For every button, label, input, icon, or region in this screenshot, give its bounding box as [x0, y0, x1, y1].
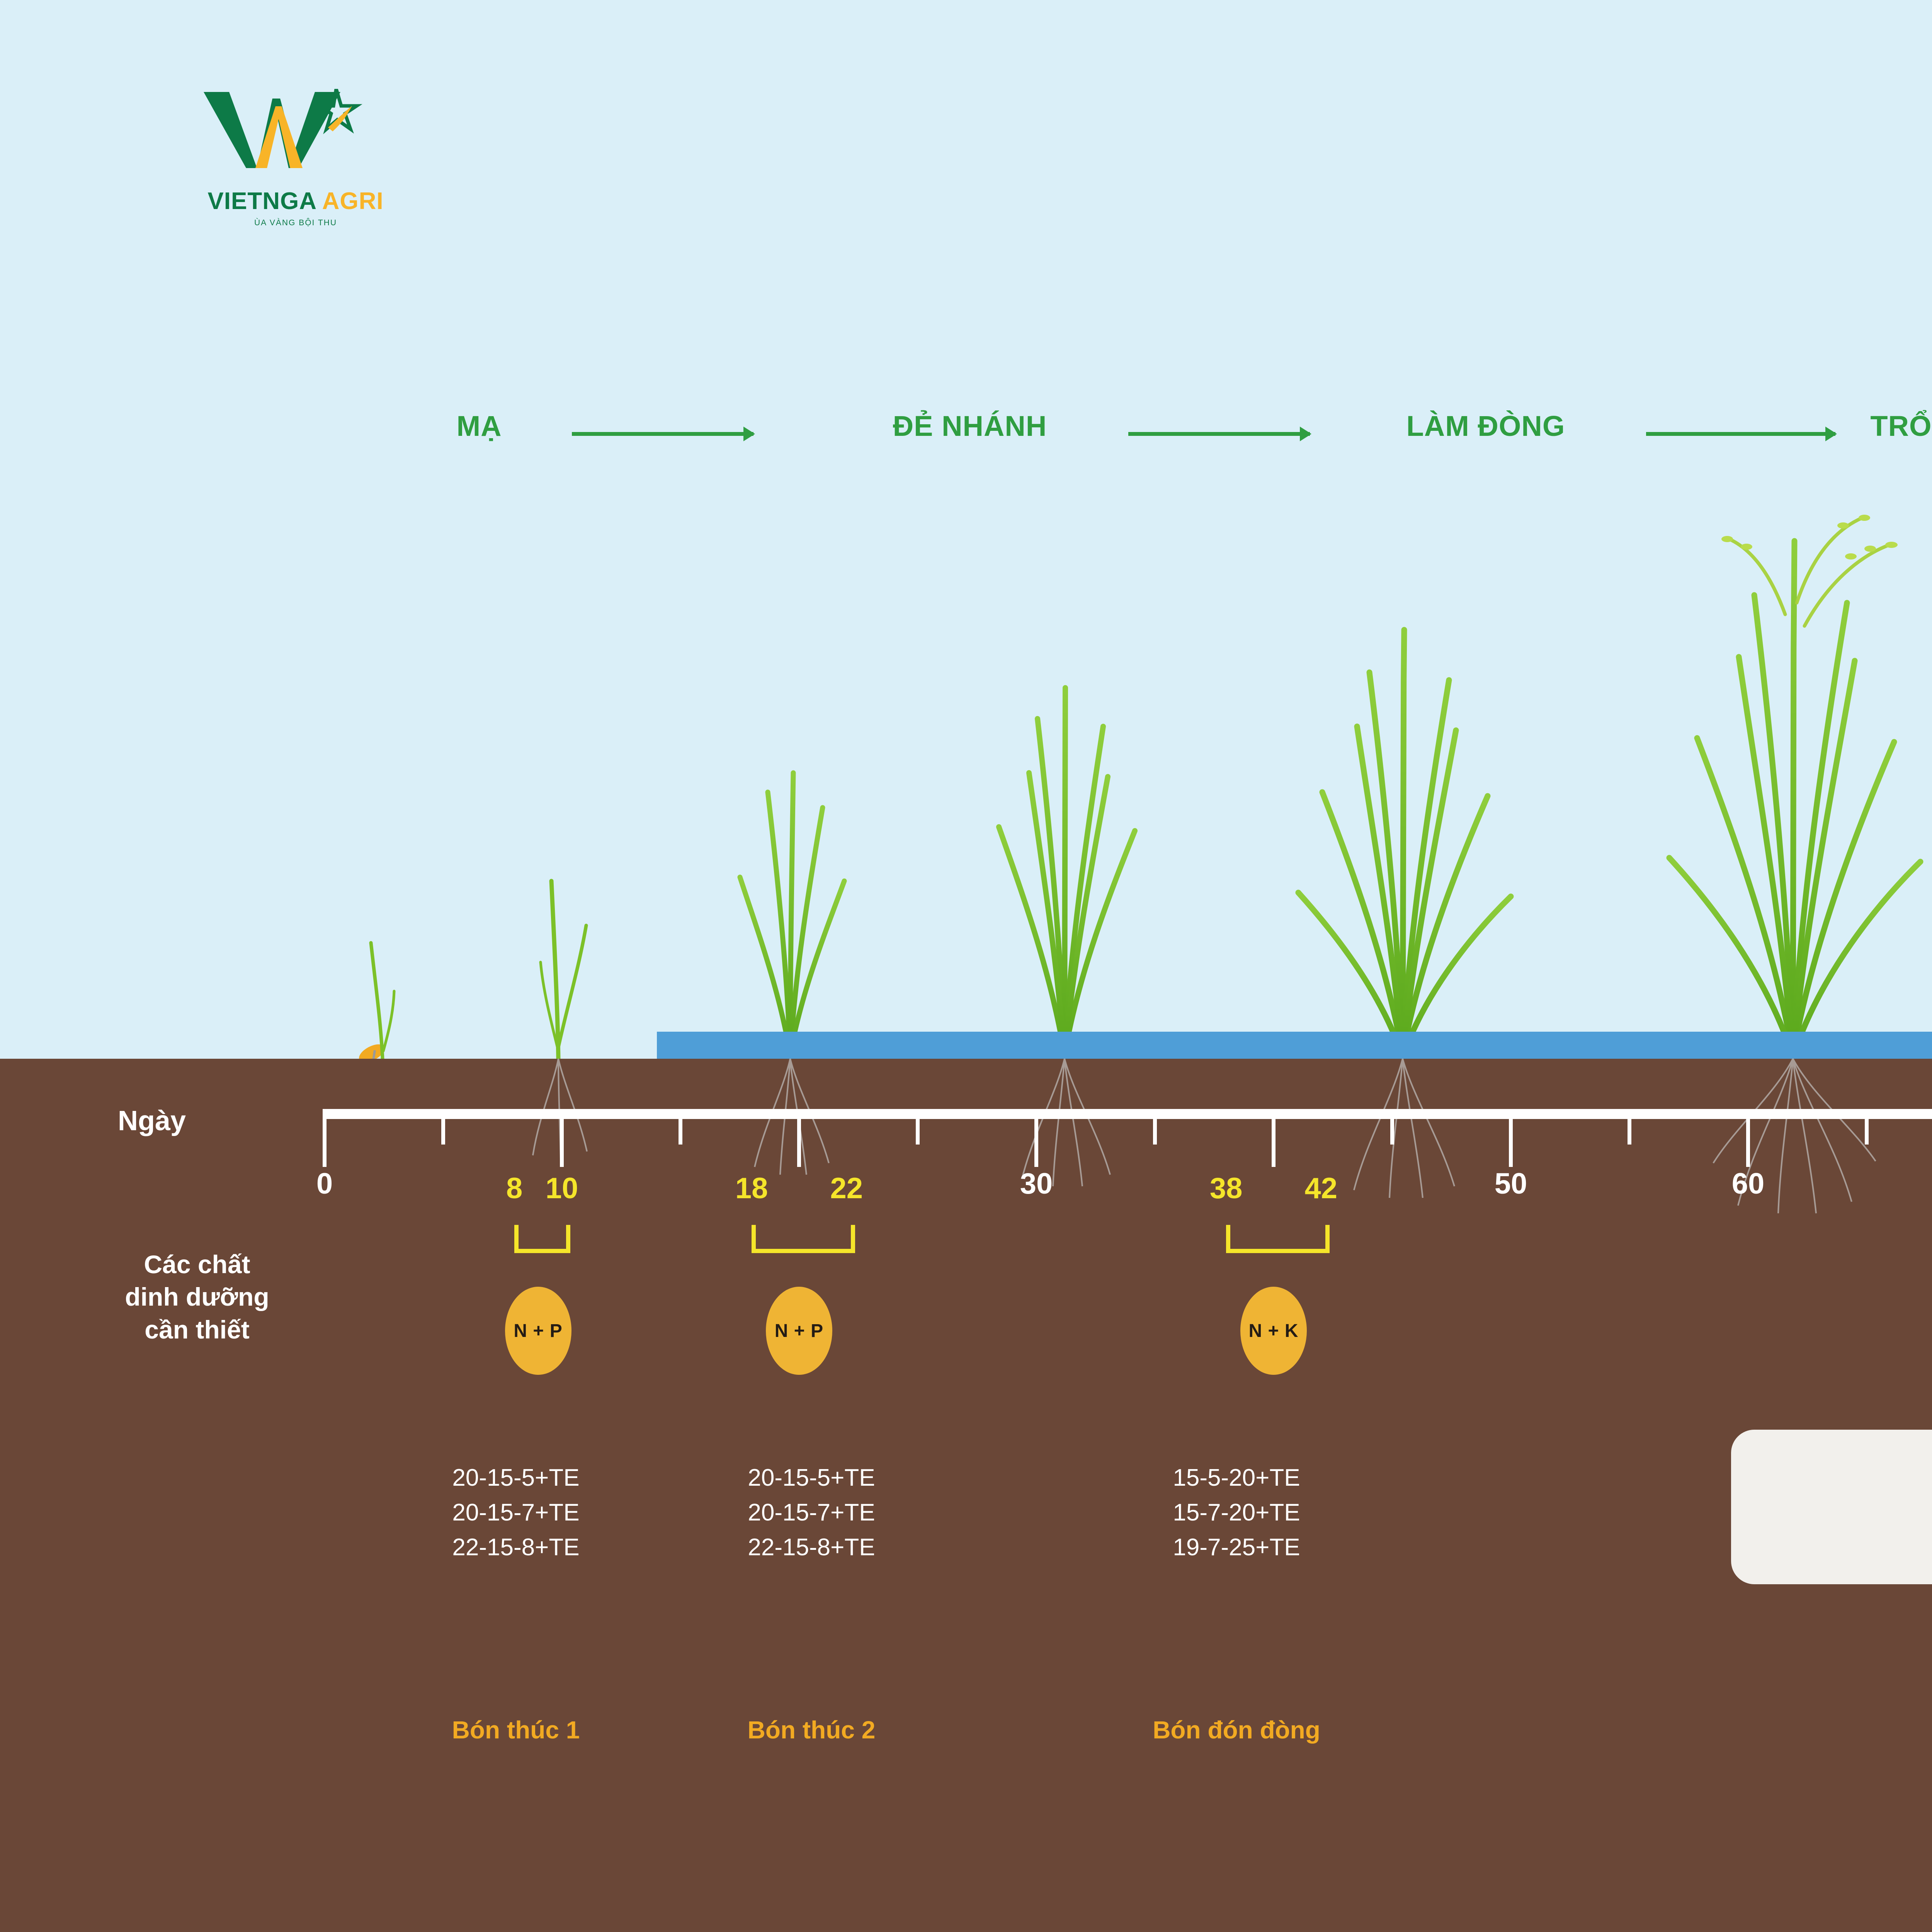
formula-column-2: 20-15-5+TE20-15-7+TE22-15-8+TE [748, 1461, 875, 1565]
advisory-note: Lưu ý: có rất nhiều yếu tố để quyết định… [1731, 1607, 1932, 1708]
day-label-18: 18 [735, 1172, 768, 1205]
formula-item: 20-15-7+TE [452, 1495, 579, 1530]
day-label-50: 50 [1495, 1167, 1527, 1201]
growth-stage-flow: MẠĐẺ NHÁNHLÀM ĐÒNGTRỔTHU HOẠCH [0, 410, 1932, 471]
tick-major-10 [560, 1117, 564, 1167]
tick-minor-45 [1390, 1117, 1394, 1145]
stage-label-4: TRỔ [1870, 410, 1932, 442]
w-monogram-icon [199, 89, 365, 185]
nutrient-badge-1[interactable]: N + P [505, 1287, 571, 1375]
timeline-axis [323, 1109, 1932, 1119]
nutrient-label-line-1: Các chất [73, 1248, 321, 1281]
stage-arrow-3 [1646, 432, 1835, 436]
formula-item: 22-15-8+TE [452, 1530, 579, 1565]
formula-column-1: 20-15-5+TE20-15-7+TE22-15-8+TE [452, 1461, 579, 1565]
fertilizer-bracket-3 [1226, 1225, 1330, 1253]
day-label-60: 60 [1732, 1167, 1765, 1201]
logo-name-orange: AGRI [322, 188, 384, 214]
stage-label-3: LÀM ĐÒNG [1406, 410, 1565, 442]
note-line-1: Lưu ý: có rất nhiều yếu tố để quyết định… [1731, 1607, 1932, 1641]
day-label-10: 10 [546, 1172, 578, 1205]
stage-arrow-1 [572, 432, 753, 436]
fertilizer-stage-name-1: Bón thúc 1 [452, 1716, 580, 1744]
formula-item: 22-15-8+TE [748, 1530, 875, 1565]
tick-minor-35 [1153, 1117, 1157, 1145]
day-label-8: 8 [506, 1172, 522, 1205]
logo-name-green: VIETNGA [207, 188, 316, 214]
day-label-30: 30 [1020, 1167, 1053, 1201]
nutrient-badge-2[interactable]: N + P [766, 1287, 832, 1375]
tick-major-40 [1272, 1117, 1276, 1167]
day-label-38: 38 [1210, 1172, 1243, 1205]
tick-major-60 [1746, 1117, 1750, 1167]
formula-item: 19-7-25+TE [1173, 1530, 1300, 1565]
day-label-22: 22 [830, 1172, 863, 1205]
formula-item: 15-5-20+TE [1173, 1461, 1300, 1495]
nutrient-badge-label: N + K [1248, 1320, 1298, 1342]
fertilizer-bracket-2 [752, 1225, 855, 1253]
stage-label-2: ĐẺ NHÁNH [893, 410, 1047, 442]
info-card: CÁC GIAI ĐOẠN BÓN PHÂN CHO LÚA (Thời gia… [1731, 1430, 1932, 1584]
tick-major-50 [1509, 1117, 1513, 1167]
soil-layer [0, 1059, 1932, 1932]
tick-minor-25 [916, 1117, 920, 1145]
formula-column-3: 15-5-20+TE15-7-20+TE19-7-25+TE [1173, 1461, 1300, 1565]
nutrient-section-label: Các chất dinh dưỡng cần thiết [73, 1248, 321, 1346]
formula-item: 20-15-7+TE [748, 1495, 875, 1530]
formula-item: 20-15-5+TE [452, 1461, 579, 1495]
nutrient-badge-label: N + P [514, 1320, 562, 1342]
day-label-42: 42 [1305, 1172, 1338, 1205]
axis-day-label: Ngày [118, 1105, 186, 1137]
fertilizer-stage-name-2: Bón thúc 2 [748, 1716, 876, 1744]
logo-wordmark: VIETNGA AGRI [176, 189, 415, 213]
stage-label-1: MẠ [456, 410, 502, 442]
tick-major-30 [1034, 1117, 1038, 1167]
fertilizer-stage-name-3: Bón đón đòng [1153, 1716, 1320, 1744]
note-line-2: nên bà con cần thăm ruộng thường xuyên đ… [1731, 1641, 1932, 1675]
day-label-0: 0 [316, 1167, 333, 1201]
note-line-3: hiện rủi ro và xử lý kịp thời [1731, 1675, 1932, 1708]
fertilizer-bracket-1 [514, 1225, 570, 1253]
tick-minor-65 [1865, 1117, 1869, 1145]
nutrient-label-line-3: cần thiết [73, 1313, 321, 1346]
formula-item: 15-7-20+TE [1173, 1495, 1300, 1530]
tick-minor-5 [441, 1117, 445, 1145]
tick-minor-55 [1628, 1117, 1631, 1145]
brand-logo[interactable]: VIETNGA AGRI ÙA VÀNG BỘI THU [176, 43, 415, 240]
tick-minor-15 [679, 1117, 682, 1145]
nutrient-badge-3[interactable]: N + K [1240, 1287, 1307, 1375]
tick-major-20 [797, 1117, 801, 1167]
logo-tagline: ÙA VÀNG BỘI THU [176, 218, 415, 228]
nutrient-badge-label: N + P [775, 1320, 823, 1342]
formula-item: 20-15-5+TE [748, 1461, 875, 1495]
stage-arrow-2 [1128, 432, 1310, 436]
infographic-canvas: VIETNGA AGRI ÙA VÀNG BỘI THU MẠĐẺ NHÁNHL… [0, 0, 1932, 1932]
paddy-water-layer [657, 1032, 1932, 1060]
tick-major-0 [323, 1117, 327, 1167]
nutrient-label-line-2: dinh dưỡng [73, 1281, 321, 1313]
